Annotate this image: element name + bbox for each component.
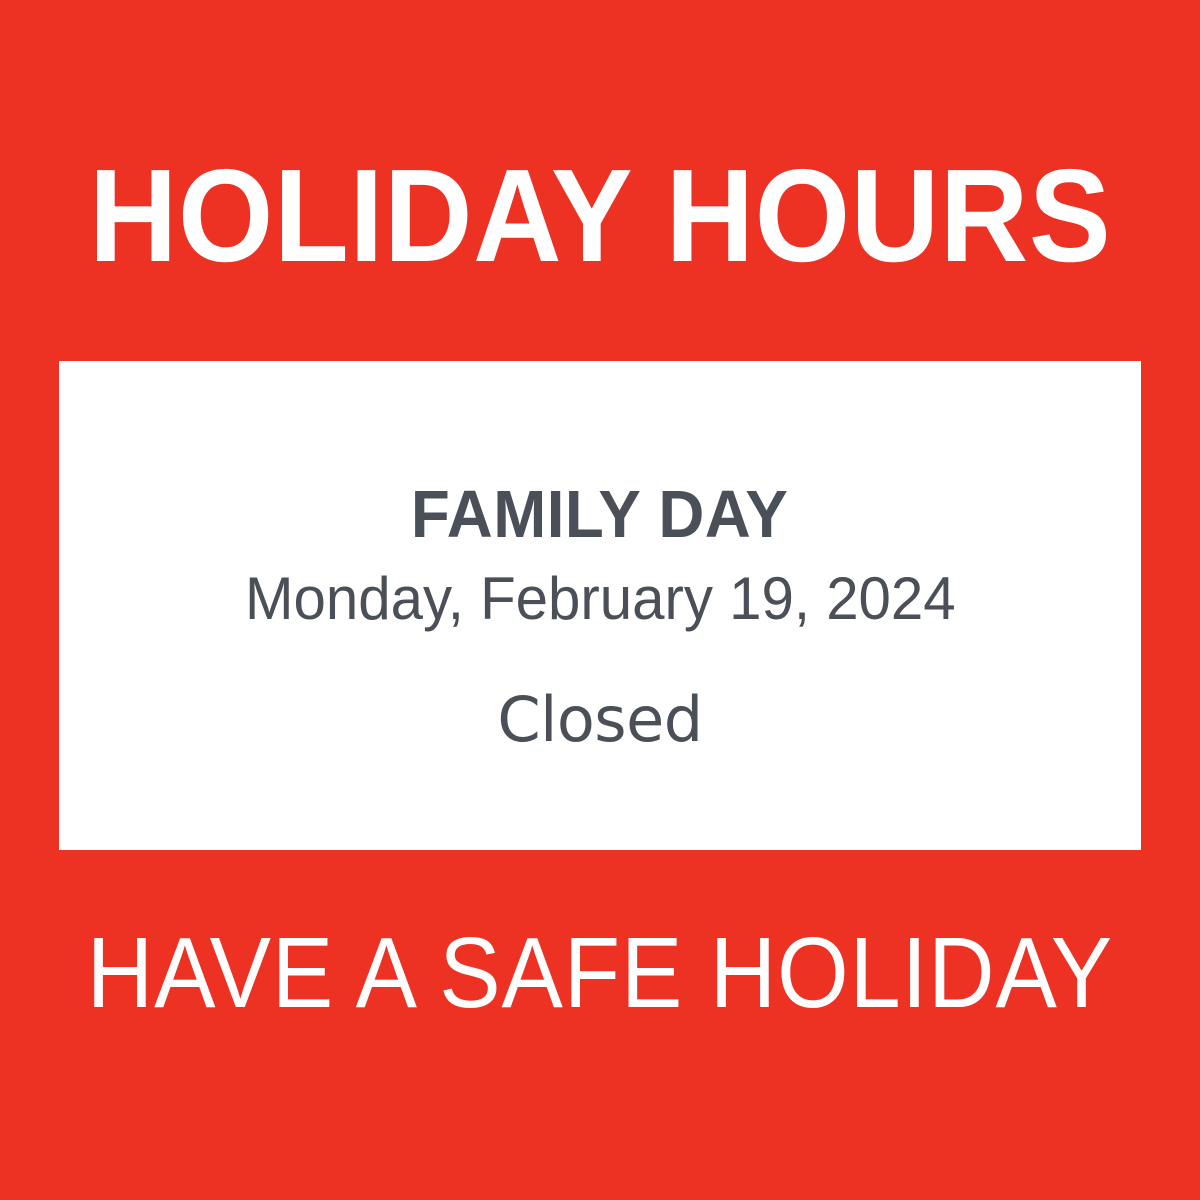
page-title: HOLIDAY HOURS [42, 150, 1158, 282]
holiday-info-card-content: FAMILY DAY Monday, February 19, 2024 Clo… [59, 361, 1141, 850]
holiday-date: Monday, February 19, 2024 [245, 567, 956, 631]
holiday-hours-sign: HOLIDAY HOURS FAMILY DAY Monday, Februar… [0, 0, 1200, 1200]
holiday-name: FAMILY DAY [411, 481, 788, 549]
status-badge: Closed [497, 687, 702, 753]
holiday-info-card: FAMILY DAY Monday, February 19, 2024 Clo… [59, 361, 1141, 850]
footer-message: HAVE A SAFE HOLIDAY [48, 921, 1152, 1025]
